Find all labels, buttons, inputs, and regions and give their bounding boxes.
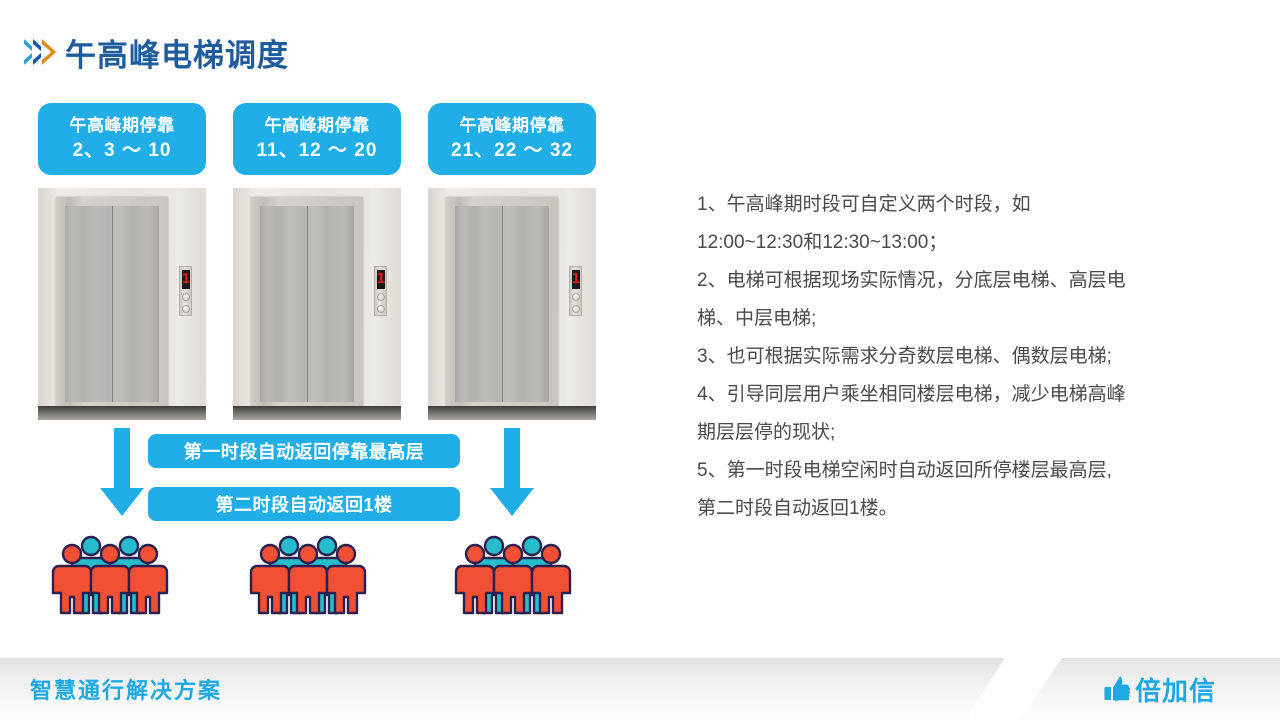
elevator-photo-3: 1 — [428, 188, 596, 420]
footer-brand: 倍加信 — [1104, 658, 1216, 720]
elevator-wall-left — [233, 188, 251, 420]
elevator-floor — [38, 406, 206, 420]
elevator-column-2: 午高峰期停靠 11、12 ～ 20 1 — [233, 103, 401, 420]
stop-badge-range: 11、12 ～ 20 — [257, 138, 378, 163]
elevator-column-3: 午高峰期停靠 21、22 ～ 32 1 — [428, 103, 596, 420]
stop-range-badge-2[interactable]: 午高峰期停靠 11、12 ～ 20 — [233, 103, 401, 175]
people-group-icon-3 — [450, 533, 600, 615]
stop-badge-title: 午高峰期停靠 — [460, 115, 565, 137]
elevator-doors — [260, 206, 354, 402]
people-group-icon-1 — [47, 533, 197, 615]
call-down-button[interactable] — [182, 305, 190, 313]
stop-badge-range: 2、3 ～ 10 — [73, 138, 172, 163]
elevator-call-panel-3[interactable]: 1 — [569, 266, 582, 316]
call-down-button[interactable] — [377, 305, 385, 313]
elevator-wall-left — [428, 188, 446, 420]
people-group-icon-2 — [245, 533, 395, 615]
stage-banner-second-period[interactable]: 第二时段自动返回1楼 — [148, 487, 460, 521]
elevator-doors — [65, 206, 159, 402]
note-line: 梯、中层电梯; — [697, 300, 1197, 338]
notes-panel: 1、午高峰期时段可自定义两个时段，如 12:00~12:30和12:30~13:… — [697, 186, 1197, 528]
slide-title-bar: 午高峰电梯调度 — [24, 28, 289, 76]
elevator-call-panel-2[interactable]: 1 — [374, 266, 387, 316]
footer-brand-text: 倍加信 — [1135, 671, 1216, 708]
note-line: 期层层停的现状; — [697, 414, 1197, 452]
down-arrow-icon-right — [488, 428, 536, 518]
stop-badge-title: 午高峰期停靠 — [265, 115, 370, 137]
footer-bar: 智慧通行解决方案 倍加信 — [0, 658, 1280, 720]
elevator-photo-2: 1 — [233, 188, 401, 420]
floor-display: 1 — [182, 270, 190, 289]
elevator-wall-left — [38, 188, 56, 420]
stage-banner-first-period[interactable]: 第一时段自动返回停靠最高层 — [148, 434, 460, 468]
stop-badge-title: 午高峰期停靠 — [70, 115, 175, 137]
elevator-call-panel-1[interactable]: 1 — [179, 266, 192, 316]
elevator-column-1: 午高峰期停靠 2、3 ～ 10 1 — [38, 103, 206, 420]
note-line: 第二时段自动返回1楼。 — [697, 490, 1197, 528]
call-down-button[interactable] — [572, 305, 580, 313]
note-line: 3、也可根据实际需求分奇数层电梯、偶数层电梯; — [697, 338, 1197, 376]
chevron-right-icon-3 — [42, 39, 56, 65]
elevator-door-frame — [251, 197, 363, 411]
elevator-photo-1: 1 — [38, 188, 206, 420]
note-line: 4、引导同层用户乘坐相同楼层电梯，减少电梯高峰 — [697, 376, 1197, 414]
elevator-doors — [455, 206, 549, 402]
elevator-door-frame — [56, 197, 168, 411]
note-line: 5、第一时段电梯空闲时自动返回所停楼层最高层, — [697, 452, 1197, 490]
stop-range-badge-3[interactable]: 午高峰期停靠 21、22 ～ 32 — [428, 103, 596, 175]
note-line: 2、电梯可根据现场实际情况，分底层电梯、高层电 — [697, 262, 1197, 300]
page-title: 午高峰电梯调度 — [65, 30, 289, 75]
elevator-door-frame — [446, 197, 558, 411]
chevron-group-icon — [24, 39, 51, 65]
note-line: 1、午高峰期时段可自定义两个时段，如 — [697, 186, 1197, 224]
call-up-button[interactable] — [572, 293, 580, 301]
thumbs-up-icon — [1104, 676, 1132, 702]
note-line: 12:00~12:30和12:30~13:00； — [697, 224, 1197, 262]
footer-solution-label: 智慧通行解决方案 — [30, 658, 222, 720]
floor-display: 1 — [377, 270, 385, 289]
call-up-button[interactable] — [182, 293, 190, 301]
stop-range-badge-1[interactable]: 午高峰期停靠 2、3 ～ 10 — [38, 103, 206, 175]
floor-display: 1 — [572, 270, 580, 289]
call-up-button[interactable] — [377, 293, 385, 301]
stop-badge-range: 21、22 ～ 32 — [451, 138, 573, 163]
elevator-floor — [428, 406, 596, 420]
down-arrow-icon-left — [98, 428, 146, 518]
elevator-floor — [233, 406, 401, 420]
